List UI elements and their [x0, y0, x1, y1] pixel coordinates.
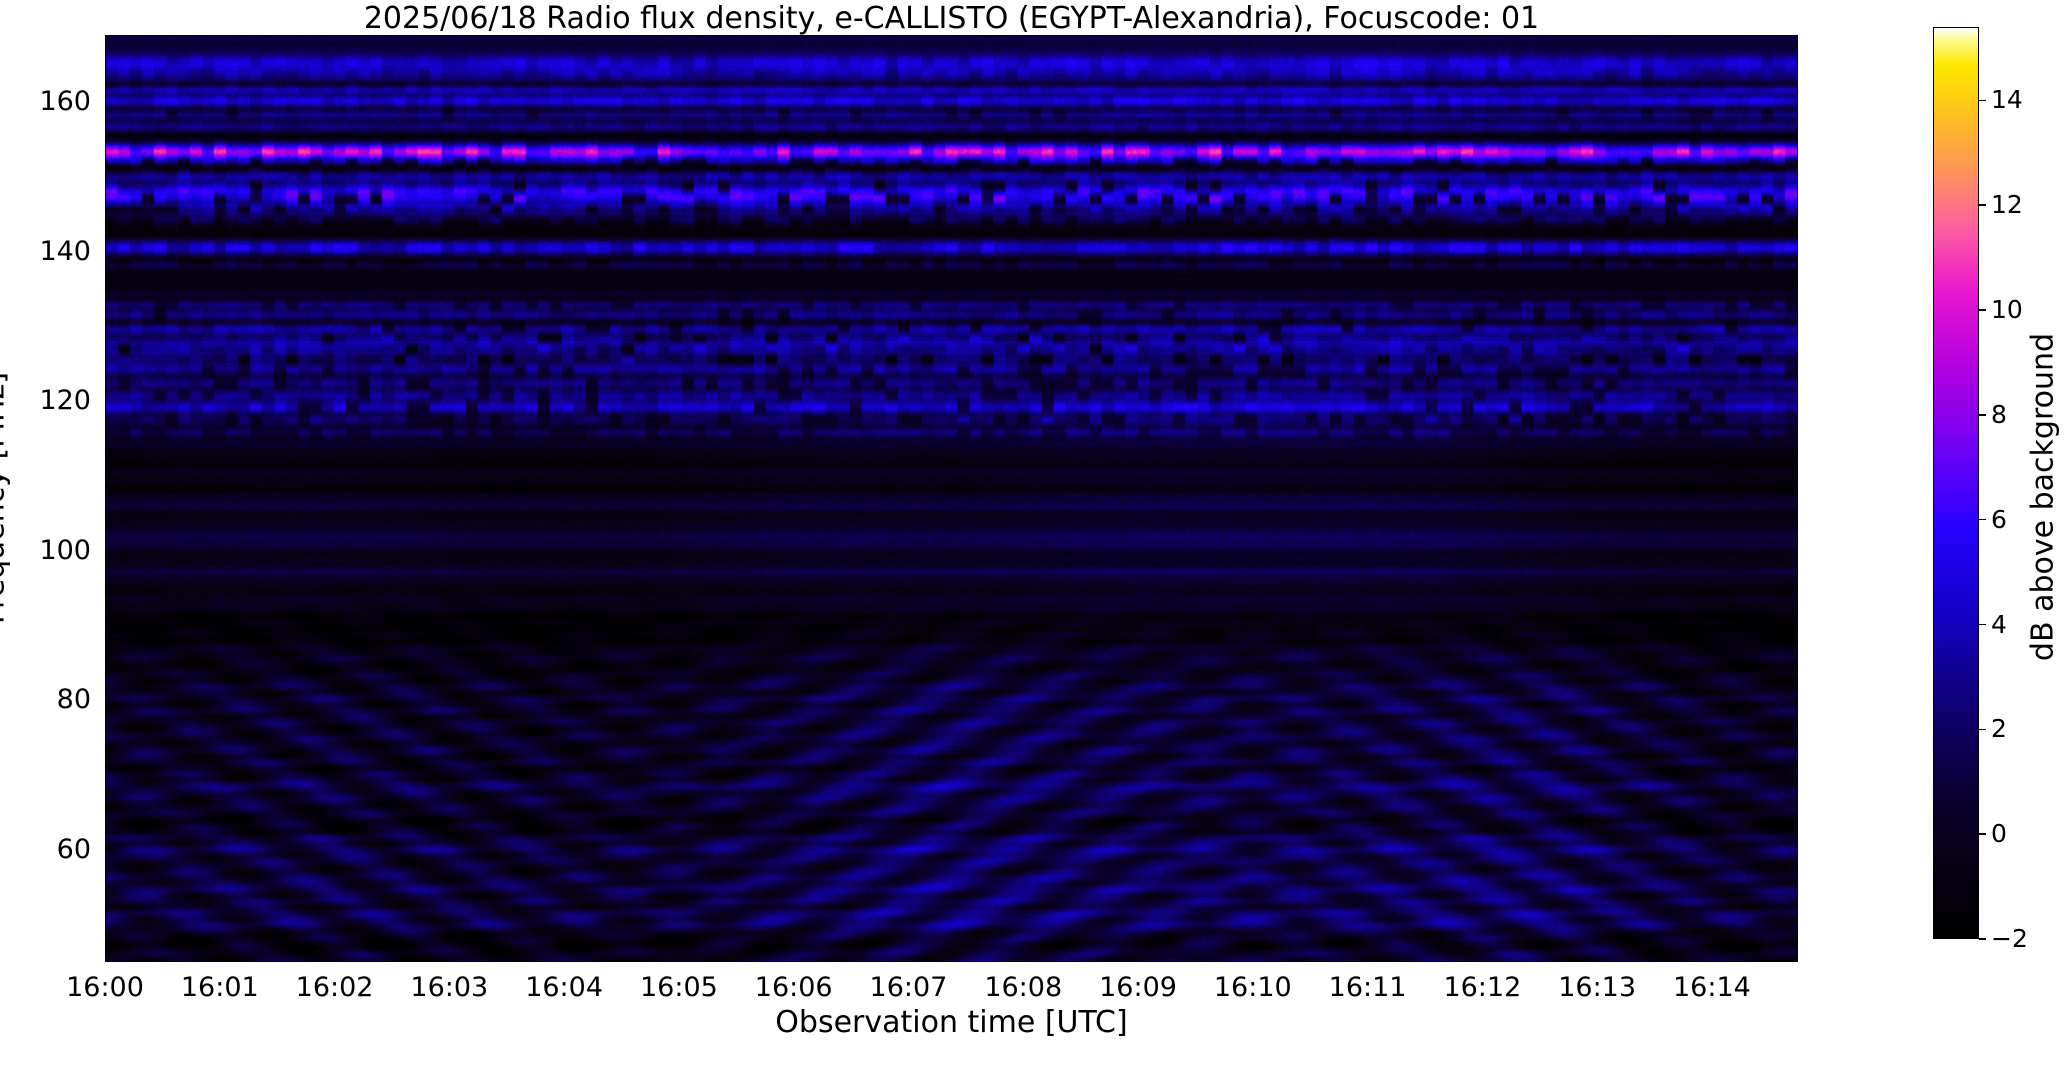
y-tick-label: 120 [0, 387, 91, 414]
y-tick-label: 100 [0, 537, 91, 564]
colorbar-tick [1979, 100, 1986, 102]
y-tick [105, 402, 106, 404]
colorbar-tick-label: 10 [1991, 297, 2023, 322]
colorbar: 14121086420−2 [1933, 27, 1979, 939]
colorbar-canvas [1934, 28, 1978, 938]
colorbar-tick-label: 8 [1991, 402, 2007, 427]
y-tick-label: 60 [0, 836, 91, 863]
colorbar-tick [1979, 938, 1986, 940]
y-tick [105, 252, 106, 254]
colorbar-tick [1979, 414, 1986, 416]
colorbar-gradient [1933, 27, 1979, 939]
y-tick-label: 80 [0, 686, 91, 713]
colorbar-tick [1979, 204, 1986, 206]
colorbar-tick [1979, 833, 1986, 835]
spectrogram-canvas [106, 36, 1797, 961]
colorbar-tick-label: −2 [1991, 926, 2028, 951]
colorbar-tick [1979, 519, 1986, 521]
y-tick [105, 850, 106, 852]
colorbar-label: dB above background [2026, 333, 2061, 661]
colorbar-tick-label: 2 [1991, 716, 2007, 741]
spectrogram-plot-area [105, 35, 1798, 962]
colorbar-tick [1979, 729, 1986, 731]
x-axis-label: Observation time [UTC] [105, 1005, 1798, 1040]
colorbar-tick-label: 4 [1991, 612, 2007, 637]
colorbar-tick-label: 12 [1991, 192, 2023, 217]
y-tick [105, 701, 106, 703]
y-tick-label: 160 [0, 88, 91, 115]
colorbar-tick [1979, 624, 1986, 626]
colorbar-tick-label: 0 [1991, 821, 2007, 846]
y-axis-label: Frequency [MHz] [0, 372, 12, 624]
colorbar-tick-label: 14 [1991, 87, 2023, 112]
colorbar-tick [1979, 309, 1986, 311]
colorbar-tick-label: 6 [1991, 507, 2007, 532]
y-tick-label: 140 [0, 238, 91, 265]
x-tick-label: 16:14 [1642, 974, 1782, 1001]
y-tick [105, 102, 106, 104]
spectrogram-image [106, 36, 1797, 961]
page-title: 2025/06/18 Radio flux density, e-CALLIST… [105, 2, 1798, 36]
y-tick [105, 551, 106, 553]
